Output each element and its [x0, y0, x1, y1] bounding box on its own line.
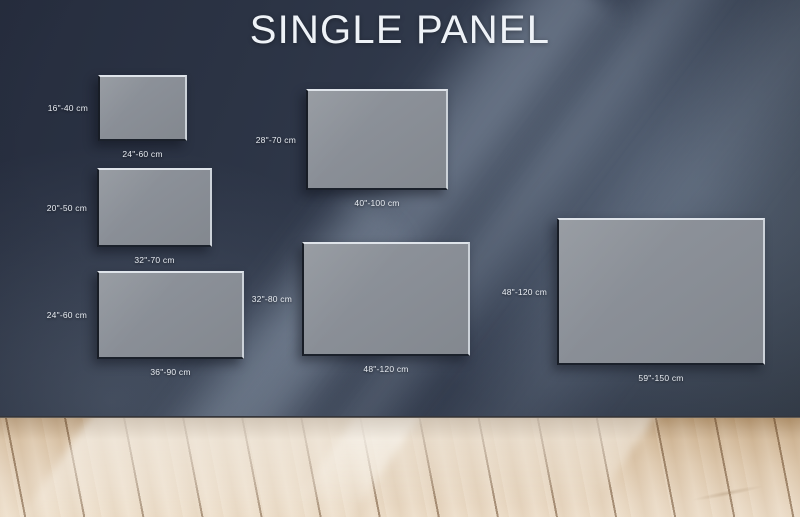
panel-32x48[interactable] — [302, 242, 470, 356]
panel-32x48-height-label: 32"-80 cm — [252, 294, 292, 304]
wood-floor — [0, 418, 800, 517]
panel-48x59-width-label: 59"-150 cm — [638, 373, 683, 383]
panel-20x32[interactable] — [97, 168, 212, 247]
panel-28x40-height-label: 28"-70 cm — [256, 135, 296, 145]
panel-28x40[interactable] — [306, 89, 448, 190]
panel-20x32-height-label: 20"-50 cm — [47, 203, 87, 213]
floor-grain — [0, 418, 800, 517]
panel-24x36-height-label: 24"-60 cm — [47, 310, 87, 320]
page-title: SINGLE PANEL — [0, 8, 800, 53]
room-scene: SINGLE PANEL 16"-40 cm24"-60 cm20"-50 cm… — [0, 0, 800, 517]
panel-32x48-width-label: 48"-120 cm — [363, 364, 408, 374]
panel-16x24-width-label: 24"-60 cm — [122, 149, 162, 159]
panel-28x40-width-label: 40"-100 cm — [354, 198, 399, 208]
panel-24x36-width-label: 36"-90 cm — [150, 367, 190, 377]
panel-16x24[interactable] — [98, 75, 187, 141]
panel-16x24-height-label: 16"-40 cm — [48, 103, 88, 113]
panel-20x32-width-label: 32"-70 cm — [134, 255, 174, 265]
panel-48x59[interactable] — [557, 218, 765, 365]
panel-24x36[interactable] — [97, 271, 244, 359]
panel-48x59-height-label: 48"-120 cm — [502, 287, 547, 297]
